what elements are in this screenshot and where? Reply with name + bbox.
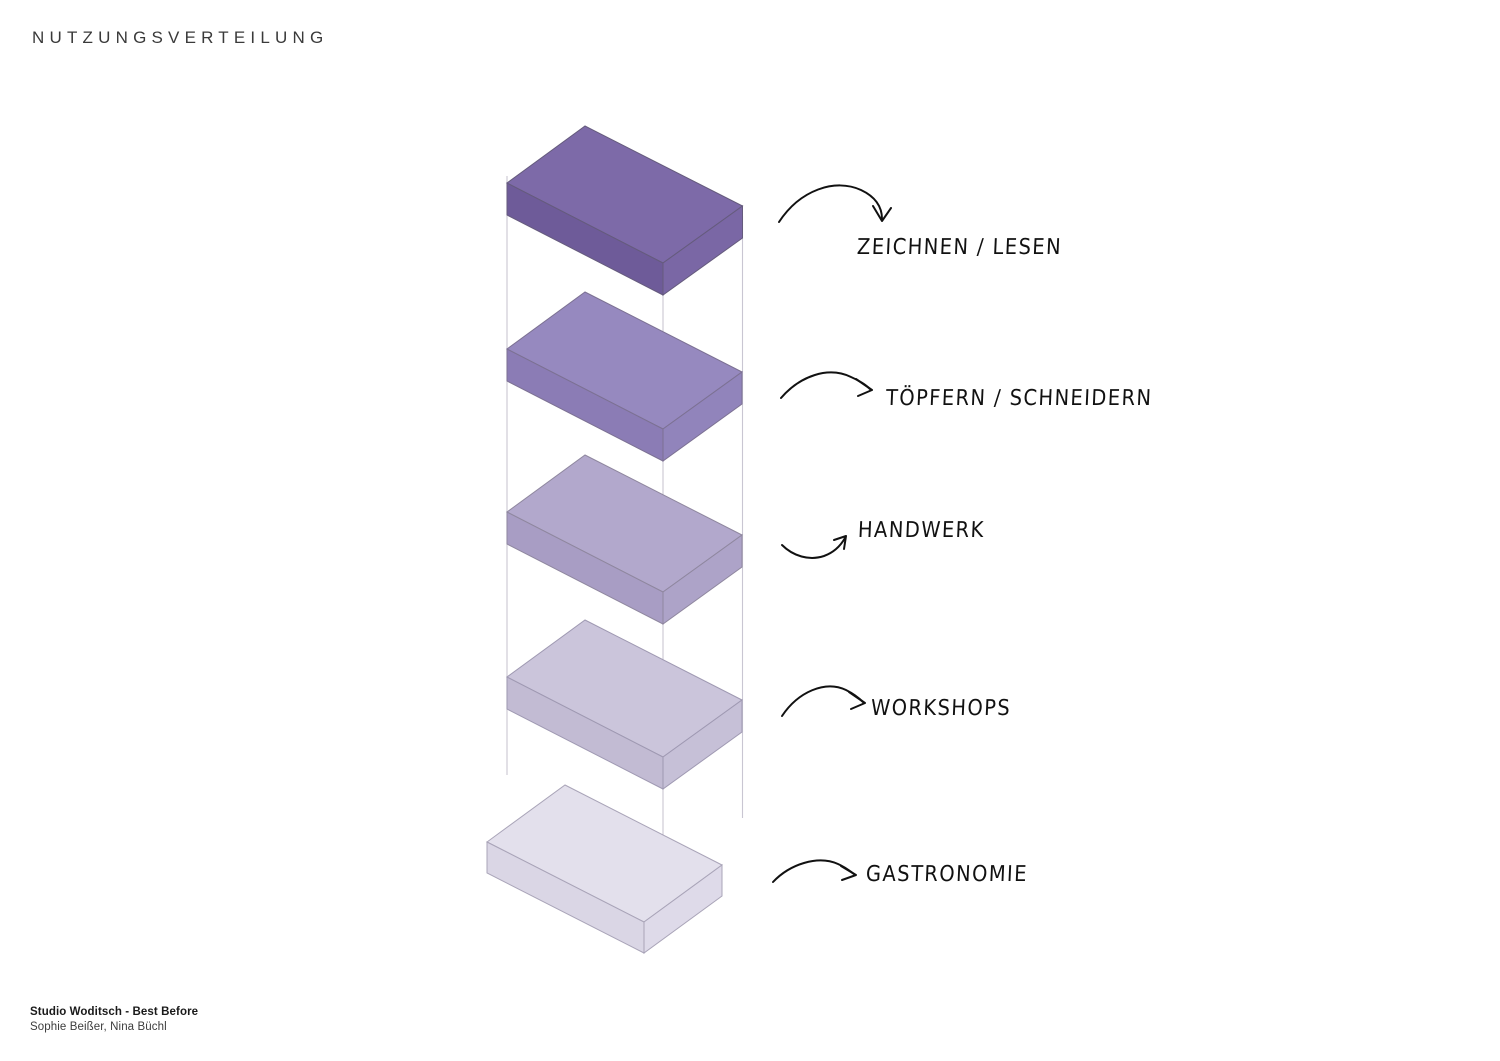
slab-level-3-left-face <box>507 512 663 624</box>
arrow-level-3-head <box>834 536 846 549</box>
slab-level-4-left-face <box>507 677 663 789</box>
label-level-5: GASTRONOMIE <box>865 861 1028 887</box>
slab-level-4[interactable] <box>507 620 742 789</box>
slab-level-3-right-face <box>663 535 742 624</box>
arrow-level-2 <box>781 373 872 398</box>
slab-level-2-top-face <box>507 292 742 429</box>
slab-level-5-left-face <box>487 842 644 953</box>
stack-guide-lines <box>507 126 743 872</box>
nutzungsverteilung-diagram <box>0 0 1500 1061</box>
arrow-level-1-head <box>873 206 891 221</box>
arrow-level-4-curve <box>782 686 863 716</box>
arrow-level-5-curve <box>773 860 854 882</box>
label-level-4: WORKSHOPS <box>870 695 1011 721</box>
slab-level-1-right-face <box>663 206 743 295</box>
footer-credits: Studio Woditsch - Best Before Sophie Bei… <box>30 1005 198 1035</box>
arrow-level-3-curve <box>782 538 845 558</box>
page-title: NUTZUNGSVERTEILUNG <box>32 28 328 48</box>
slab-level-5[interactable] <box>487 785 722 953</box>
footer-project-title: Studio Woditsch - Best Before <box>30 1005 198 1020</box>
arrow-level-1-curve <box>779 185 882 222</box>
label-level-3: HANDWERK <box>857 517 985 543</box>
footer-authors: Sophie Beißer, Nina Büchl <box>30 1020 198 1035</box>
slab-level-1[interactable] <box>507 126 743 295</box>
arrow-level-5-head <box>841 866 856 880</box>
slab-level-3-top-face <box>507 455 742 592</box>
arrow-level-4 <box>782 686 865 716</box>
slab-level-4-right-face <box>663 700 742 789</box>
arrow-level-2-curve <box>781 373 870 398</box>
label-level-2: TÖPFERN / SCHNEIDERN <box>885 385 1153 411</box>
slab-level-2[interactable] <box>507 292 742 461</box>
slab-level-1-left-face <box>507 183 663 295</box>
slab-level-2-left-face <box>507 349 663 461</box>
slab-level-2-right-face <box>663 372 742 461</box>
page-canvas: NUTZUNGSVERTEILUNG <box>0 0 1500 1061</box>
arrow-level-3 <box>782 536 846 558</box>
label-level-1: ZEICHNEN / LESEN <box>856 234 1062 260</box>
slab-level-5-top-face <box>487 785 722 922</box>
arrow-level-1 <box>779 185 891 222</box>
arrow-level-2-head <box>856 379 872 396</box>
slab-level-5-right-face <box>644 865 722 953</box>
slab-level-3[interactable] <box>507 455 742 624</box>
slab-level-4-top-face <box>507 620 742 757</box>
arrow-level-5 <box>773 860 856 882</box>
slab-level-1-top-face <box>507 126 743 263</box>
arrow-level-4-head <box>849 692 865 709</box>
